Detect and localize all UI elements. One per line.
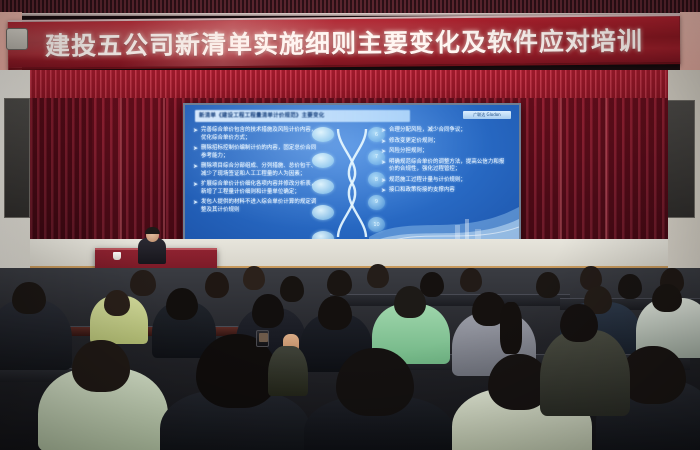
- bullet-arrow-icon: ➤: [193, 163, 198, 171]
- slide-bullet: ➤ 删除项目综合分部组成、分列措施、总价包干、减少了现场签证和人工工程量的人为因…: [193, 163, 321, 178]
- bullet-arrow-icon: ➤: [381, 127, 386, 135]
- audience-head: [243, 266, 265, 290]
- slide-bullet-text: 删除招标控制价编制计价的内容，固定总价合同参考能力；: [201, 145, 321, 160]
- bullet-arrow-icon: ➤: [193, 181, 198, 189]
- slide-bullet: ➤ 完善综合单价包含的技术措施及风险计价内容，优化综合单价方式；: [193, 127, 321, 142]
- slide-bullet-text: 发包人提供的材料不进入综合单价计算的规定调整及其计价规则: [201, 199, 321, 214]
- slide-left-column: ➤ 完善综合单价包含的技术措施及风险计价内容，优化综合单价方式； ➤ 删除招标控…: [193, 127, 321, 214]
- audience-head: [12, 282, 46, 314]
- audience-head: [618, 274, 642, 299]
- slide-bullet-text: 扩展综合单价计价细化各项内容并修改分析表，新增了工程量计价细则和计量单位确定；: [201, 181, 321, 196]
- slide-logo-text: 广联达 Glodon: [463, 111, 511, 119]
- photographer-head: [560, 304, 598, 342]
- audience-head: [252, 294, 284, 328]
- slide-bullet: ➤ 删除招标控制价编制计价的内容，固定总价合同参考能力；: [193, 145, 321, 160]
- audience-head: [336, 348, 414, 416]
- smartphone: [256, 330, 269, 347]
- audience-head: [166, 288, 198, 320]
- slide-bullet-text: 修改变更定价规则；: [389, 138, 438, 146]
- audience-head: [652, 284, 682, 312]
- audience-head: [318, 296, 352, 330]
- audience-head: [367, 264, 389, 288]
- slide-logo: 广联达 Glodon: [463, 111, 511, 119]
- bullet-arrow-icon: ➤: [193, 145, 198, 153]
- audience-head: [130, 270, 156, 296]
- projection-screen: 新清单《建设工程工程量清单计价规范》主要变化 广联达 Glodon ➤ 完善综合…: [183, 103, 521, 247]
- slide-title: 新清单《建设工程工程量清单计价规范》主要变化: [195, 110, 410, 122]
- audience-head: [205, 272, 229, 298]
- audience-head: [420, 272, 444, 297]
- slide-right-column: ➤ 合理分配风险，减少合同争议； ➤ 修改变更定价规则； ➤ 风险分担规则； ➤…: [381, 127, 509, 195]
- slide-bullet: ➤ 规范施工过程计量与计价规则；: [381, 177, 509, 185]
- audience-head: [104, 290, 130, 316]
- slide-bullet-text: 风险分担规则；: [389, 148, 427, 156]
- photographer-arm: [268, 346, 308, 396]
- slide-bullet: ➤ 发包人提供的材料不进入综合单价计算的规定调整及其计价规则: [193, 199, 321, 214]
- slide-bullet: ➤ 风险分担规则；: [381, 148, 509, 156]
- bullet-arrow-icon: ➤: [193, 199, 198, 207]
- bullet-arrow-icon: ➤: [381, 148, 386, 156]
- banner-board: 建投五公司新清单实施细则主要变化及软件应对培训: [8, 14, 680, 70]
- stage-banner: 建投五公司新清单实施细则主要变化及软件应对培训: [0, 11, 700, 75]
- speaker-hair: [145, 227, 160, 234]
- bullet-arrow-icon: ➤: [381, 138, 386, 146]
- slide-bullet: ➤ 明确规范综合单价的调整方法，提高公信力和报价的合规性，强化过程管控；: [381, 159, 509, 174]
- slide-bullet-text: 完善综合单价包含的技术措施及风险计价内容，优化综合单价方式；: [201, 127, 321, 142]
- bullet-arrow-icon: ➤: [193, 127, 198, 135]
- audience-head: [460, 268, 482, 292]
- slide-bullet: ➤ 合理分配风险，减少合同争议；: [381, 127, 509, 135]
- audience-head: [280, 276, 304, 302]
- audience-head: [394, 286, 426, 318]
- audience-ponytail: [500, 302, 522, 354]
- curtain-valance: [30, 70, 668, 100]
- left-wall-speaker: [4, 98, 30, 218]
- photographer-body: [540, 330, 630, 416]
- smartphone-screen: [259, 333, 268, 342]
- conference-hall-photo: 建投五公司新清单实施细则主要变化及软件应对培训 新清单《建设工程工程量清单计价规…: [0, 0, 700, 450]
- audience-head: [72, 340, 130, 392]
- slide-bullet-text: 合理分配风险，减少合同争议；: [389, 127, 466, 135]
- banner-light-reflection: [8, 16, 680, 70]
- slide-bullet-text: 明确规范综合单价的调整方法，提高公信力和报价的合规性，强化过程管控；: [389, 159, 509, 174]
- bullet-arrow-icon: ➤: [381, 159, 386, 167]
- audience-area: [0, 268, 700, 450]
- audience-head: [536, 272, 560, 298]
- slide-bullet-text: 规范施工过程计量与计价规则；: [389, 177, 466, 185]
- slide-bullet: ➤ 修改变更定价规则；: [381, 138, 509, 146]
- slide-decorative-wave: [369, 193, 519, 245]
- slide-bullet-text: 删除项目综合分部组成、分列措施、总价包干、减少了现场签证和人工工程量的人为因素；: [201, 163, 321, 178]
- slide-bullet: ➤ 扩展综合单价计价细化各项内容并修改分析表，新增了工程量计价细则和计量单位确定…: [193, 181, 321, 196]
- right-wall-speaker: [664, 100, 695, 218]
- water-cup: [113, 252, 121, 260]
- bullet-arrow-icon: ➤: [381, 177, 386, 185]
- seat-row: [330, 294, 570, 306]
- audience-head: [327, 270, 352, 296]
- slide-surface: 新清单《建设工程工程量清单计价规范》主要变化 广联达 Glodon ➤ 完善综合…: [185, 105, 519, 245]
- slide-title-bar: 新清单《建设工程工程量清单计价规范》主要变化: [195, 110, 410, 122]
- left-wall-vent-panel: [6, 28, 28, 50]
